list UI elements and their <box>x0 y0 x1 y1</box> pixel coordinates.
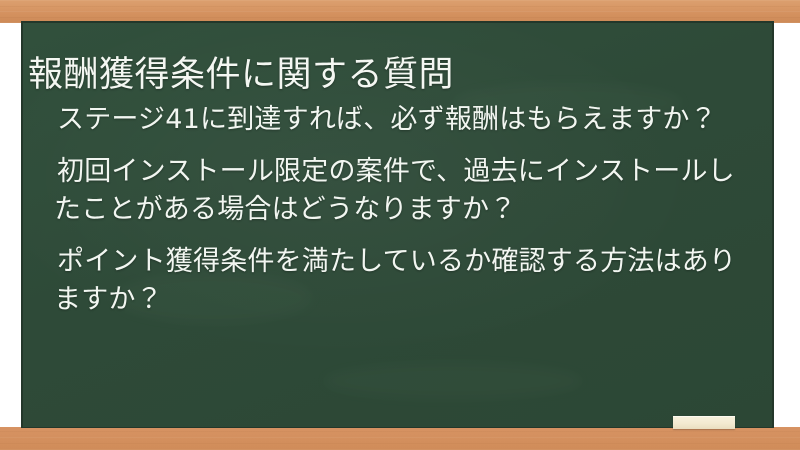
page-title: 報酬獲得条件に関する質問 <box>28 53 748 97</box>
chalk-smudge <box>323 363 583 399</box>
question-item-1: ステージ41に到達すれば、必ず報酬はもらえますか？ <box>54 101 744 139</box>
question-item-3: ポイント獲得条件を満たしているか確認する方法はありますか？ <box>54 243 744 319</box>
wood-frame-top-rail <box>0 0 800 23</box>
chalkboard-surface: 報酬獲得条件に関する質問 ステージ41に到達すれば、必ず報酬はもらえますか？ 初… <box>23 23 772 427</box>
wood-frame-bottom-rail <box>0 427 800 450</box>
question-list: ステージ41に到達すれば、必ず報酬はもらえますか？ 初回インストール限定の案件で… <box>54 101 744 319</box>
chalkboard-slide: 報酬獲得条件に関する質問 ステージ41に到達すれば、必ず報酬はもらえますか？ 初… <box>0 0 800 450</box>
chalk-eraser-icon <box>673 416 735 429</box>
question-item-2: 初回インストール限定の案件で、過去にインストールしたことがある場合はどうなります… <box>54 153 744 229</box>
